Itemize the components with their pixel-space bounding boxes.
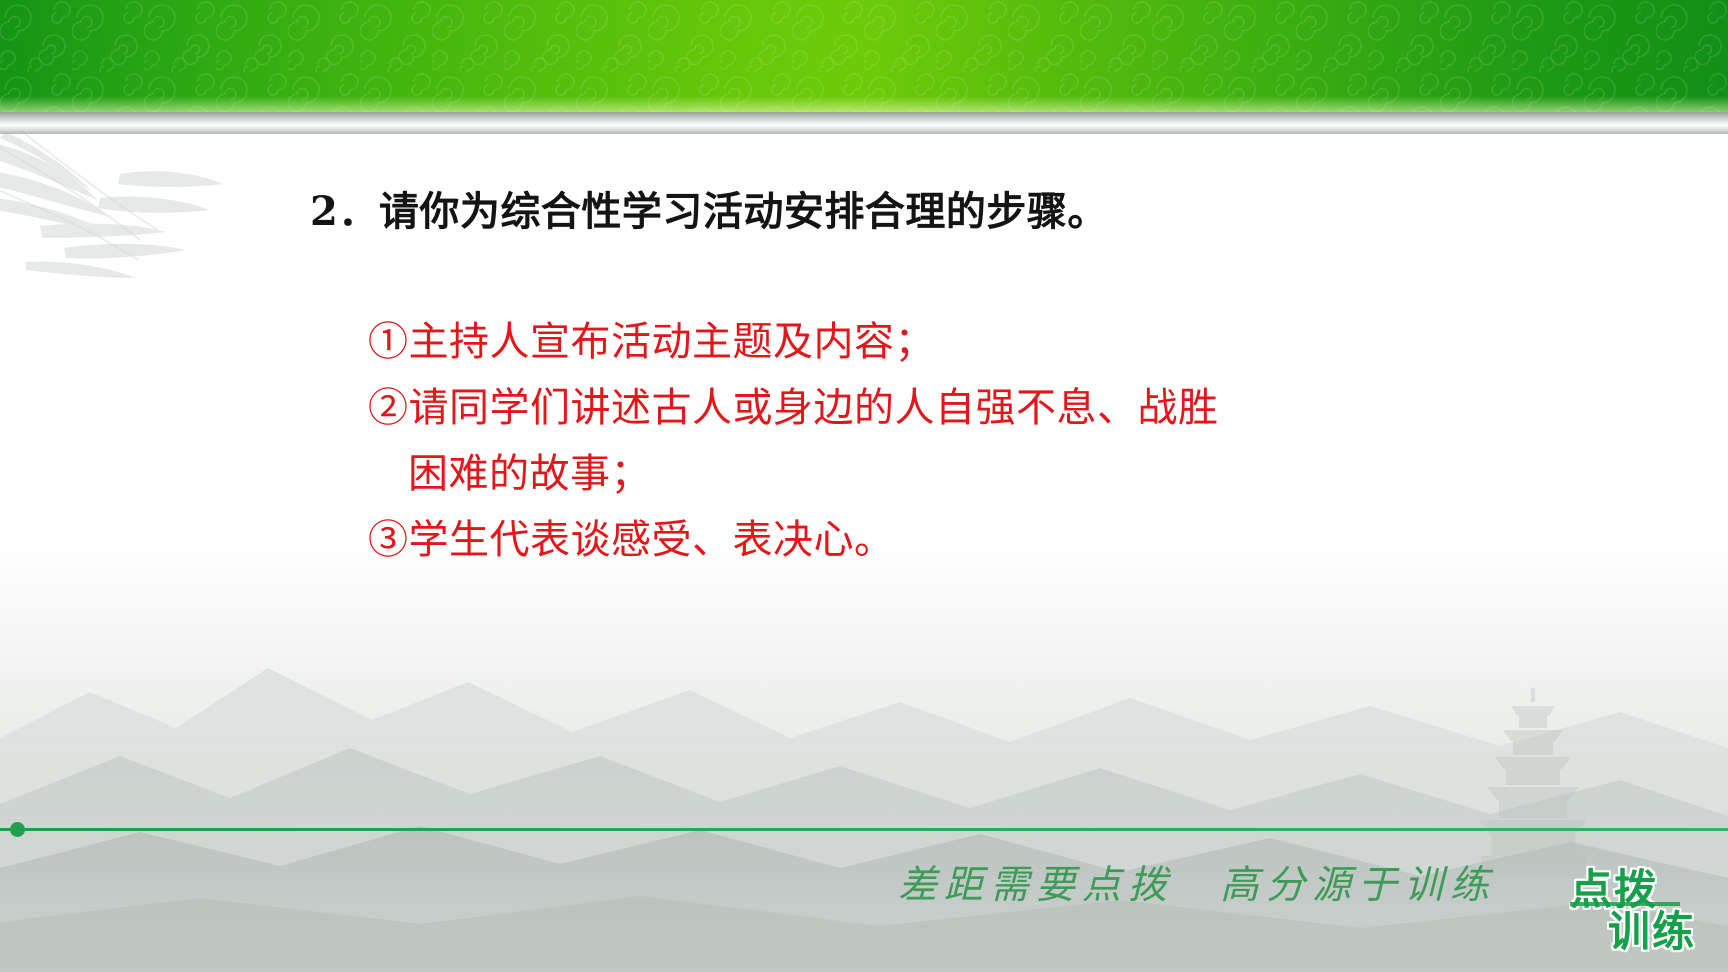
- answer-line-3: 困难的故事；: [368, 441, 1728, 507]
- question-line: 2．请你为综合性学习活动安排合理的步骤。: [310, 179, 1728, 237]
- answer-line-4: ③学生代表谈感受、表决心。: [368, 507, 1728, 573]
- slide-canvas: 2．请你为综合性学习活动安排合理的步骤。 ①主持人宣布活动主题及内容； ②请同学…: [0, 0, 1728, 972]
- footer-slogan: 差距需要点拨 高分源于训练: [898, 854, 1496, 910]
- brand-logo: 点拨 训练: [1568, 846, 1710, 962]
- silver-divider-strip: [0, 112, 1728, 134]
- answer-block: ①主持人宣布活动主题及内容； ②请同学们讲述古人或身边的人自强不息、战胜 困难的…: [368, 309, 1728, 573]
- header-band: [0, 0, 1728, 112]
- question-text: 请你为综合性学习活动安排合理的步骤。: [379, 188, 1108, 235]
- header-swirl-pattern-icon: [0, 0, 1728, 112]
- footer-divider-rule: [0, 828, 1728, 831]
- logo-text-bottom: 训练: [1608, 898, 1696, 959]
- answer-line-2: ②请同学们讲述古人或身边的人自强不息、战胜: [368, 375, 1728, 441]
- slide-content: 2．请你为综合性学习活动安排合理的步骤。 ①主持人宣布活动主题及内容； ②请同学…: [0, 134, 1728, 573]
- question-number: 2．: [310, 188, 379, 235]
- footer-bullet-dot-icon: [10, 822, 25, 837]
- answer-line-1: ①主持人宣布活动主题及内容；: [368, 309, 1728, 375]
